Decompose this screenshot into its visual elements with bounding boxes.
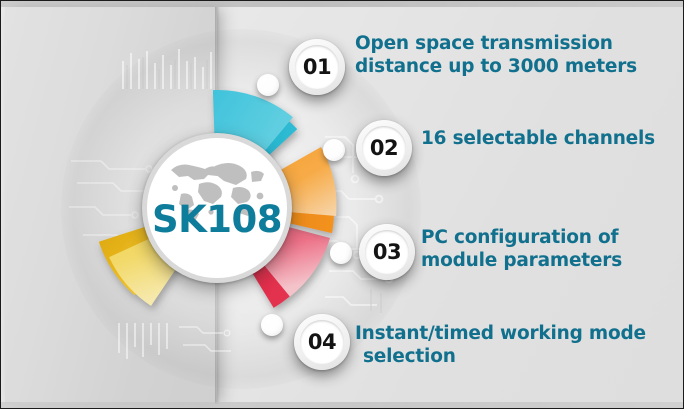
step-badge-01-number: 01 bbox=[295, 45, 339, 89]
step-badge-04[interactable]: 04 bbox=[294, 314, 350, 370]
feature-text-02-line1: 16 selectable channels bbox=[421, 128, 671, 151]
feature-text-01-line2: distance up to 3000 meters bbox=[355, 56, 665, 79]
product-name-label: SK108 bbox=[152, 198, 282, 241]
feature-text-03-line1: PC configuration of bbox=[421, 227, 661, 250]
feature-text-04: Instant/timed working mode selection bbox=[355, 323, 655, 368]
feature-text-04-line2: selection bbox=[355, 346, 655, 369]
step-badge-01[interactable]: 01 bbox=[289, 39, 345, 95]
feature-text-03: PC configuration of module parameters bbox=[421, 227, 661, 272]
infographic-poster: SK108 01 02 03 04 Open space transmissio… bbox=[0, 0, 684, 409]
connector-node-04 bbox=[261, 314, 283, 336]
feature-text-01: Open space transmission distance up to 3… bbox=[355, 33, 665, 78]
step-badge-02[interactable]: 02 bbox=[356, 120, 412, 176]
step-badge-03[interactable]: 03 bbox=[359, 224, 415, 280]
connector-node-03 bbox=[330, 242, 352, 264]
step-badge-03-number: 03 bbox=[365, 230, 409, 274]
connector-node-02 bbox=[323, 139, 345, 161]
connector-node-01 bbox=[257, 74, 279, 96]
background-top-strip bbox=[1, 1, 684, 7]
feature-text-02: 16 selectable channels bbox=[421, 128, 671, 151]
step-badge-02-number: 02 bbox=[362, 126, 406, 170]
feature-text-03-line2: module parameters bbox=[421, 250, 661, 273]
background-bottom-strip bbox=[1, 402, 684, 408]
feature-text-04-line1: Instant/timed working mode bbox=[355, 323, 655, 346]
center-disc: SK108 bbox=[142, 133, 292, 283]
step-badge-04-number: 04 bbox=[300, 320, 344, 364]
feature-text-01-line1: Open space transmission bbox=[355, 33, 665, 56]
